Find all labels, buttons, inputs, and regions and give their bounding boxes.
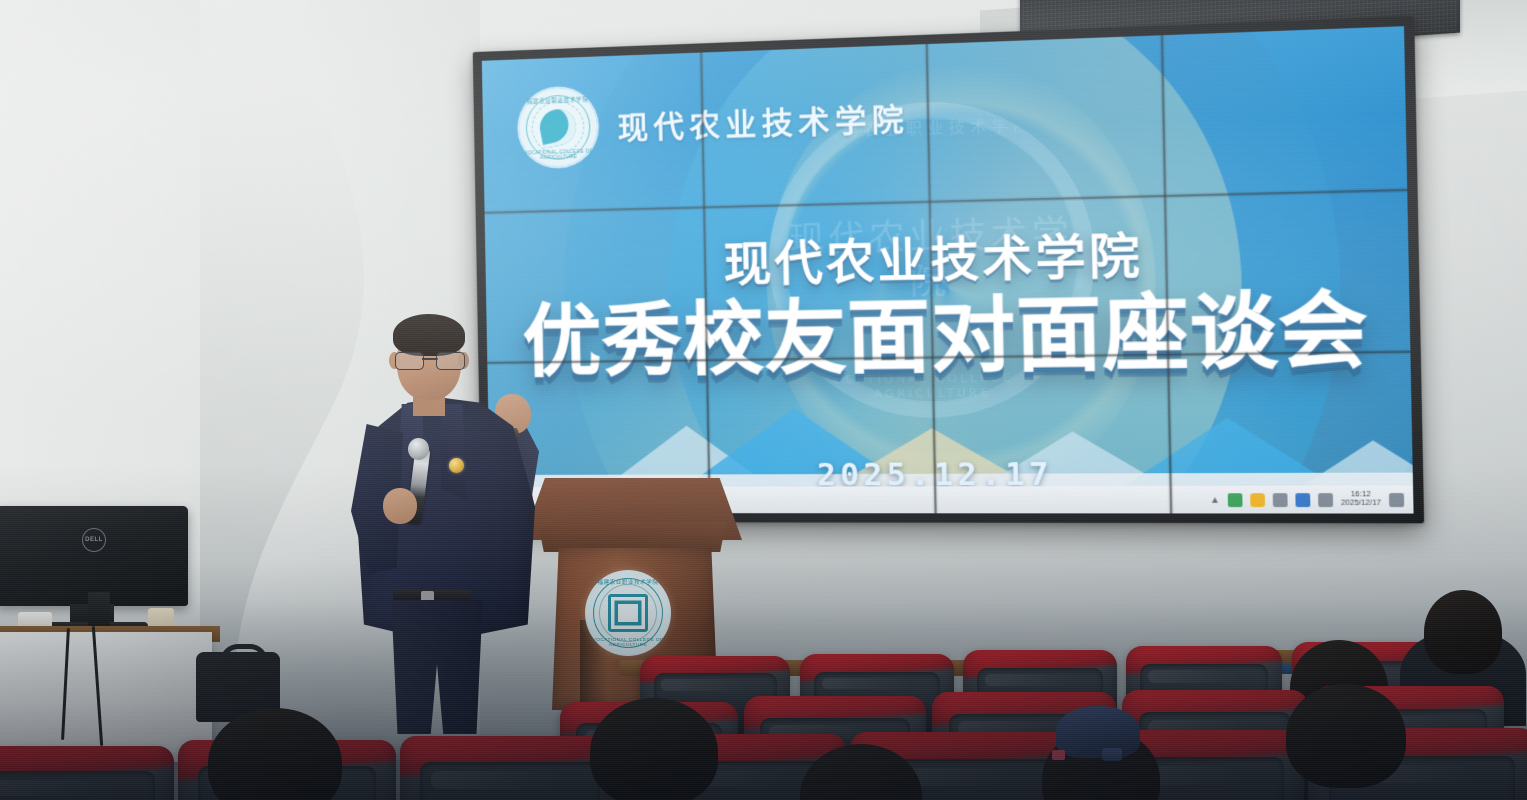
glasses-lens-left xyxy=(395,352,424,370)
slide-org-name: 现代农业技术学院 xyxy=(617,93,909,147)
speaker-lapel-pin xyxy=(449,458,464,473)
video-wall-display[interactable]: 福建农业职业技术学院 现代农业技术学院 VOCATIONAL COLLEGE O… xyxy=(473,16,1424,523)
crest-arc-bottom-text: VOCATIONAL COLLEGE OF AGRICULTURE xyxy=(519,148,598,160)
video-wall-frame: 福建农业职业技术学院 现代农业技术学院 VOCATIONAL COLLEGE O… xyxy=(473,16,1424,523)
seat xyxy=(400,736,620,800)
cap-tag xyxy=(1052,750,1065,760)
taskbar-clock-date: 2025/12/17 xyxy=(1341,500,1381,508)
crest-flame-leaf-glyph xyxy=(537,106,579,149)
podium-crest-arc-top: 福建农业职业技术学院 xyxy=(585,578,671,586)
battery-icon[interactable] xyxy=(1250,493,1265,507)
slide-title-block: 现代农业技术学院 优秀校友面对面座谈会 xyxy=(485,212,1411,385)
taskbar-clock-time: 16:12 xyxy=(1351,491,1371,499)
monitor-panel-rear: DELL xyxy=(0,506,188,606)
slide-header: 福建农业职业技术学院 VOCATIONAL COLLEGE OF AGRICUL… xyxy=(518,76,909,168)
speaker-hair xyxy=(393,314,465,356)
audience-seating xyxy=(0,598,1527,800)
input-method-icon[interactable] xyxy=(1318,493,1333,507)
audience-head xyxy=(590,698,718,800)
presentation-slide: 福建农业职业技术学院 现代农业技术学院 VOCATIONAL COLLEGE O… xyxy=(482,26,1414,513)
volume-icon[interactable] xyxy=(1273,493,1288,507)
glasses-lens-right xyxy=(436,352,465,370)
college-crest-icon: 福建农业职业技术学院 VOCATIONAL COLLEGE OF AGRICUL… xyxy=(518,87,598,168)
audience-head xyxy=(1286,684,1406,788)
audience-head xyxy=(1424,590,1502,674)
podium-top-face xyxy=(534,522,730,552)
message-icon[interactable] xyxy=(1295,493,1310,507)
chevron-up-icon[interactable]: ▲ xyxy=(1210,495,1220,505)
baseball-cap-icon xyxy=(1056,706,1140,758)
audience-head xyxy=(208,708,342,800)
speaker-left-hand xyxy=(383,488,417,524)
screenshot-root: 福建农业职业技术学院 现代农业技术学院 VOCATIONAL COLLEGE O… xyxy=(0,0,1527,800)
cap-strap xyxy=(1102,748,1122,761)
network-icon[interactable] xyxy=(1228,493,1243,507)
glasses-icon xyxy=(395,352,465,368)
taskbar-system-tray[interactable]: ▲ 16:12 2025/12/17 xyxy=(1210,491,1404,508)
seat xyxy=(0,746,174,800)
dell-logo-icon: DELL xyxy=(82,528,106,552)
slide-title-line2: 优秀校友面对面座谈会 xyxy=(486,289,1411,384)
video-wall-screen[interactable]: 福建农业职业技术学院 现代农业技术学院 VOCATIONAL COLLEGE O… xyxy=(482,26,1414,513)
taskbar-clock[interactable]: 16:12 2025/12/17 xyxy=(1341,491,1381,508)
notification-icon[interactable] xyxy=(1389,493,1404,507)
crest-arc-top-text: 福建农业职业技术学院 xyxy=(518,95,597,106)
